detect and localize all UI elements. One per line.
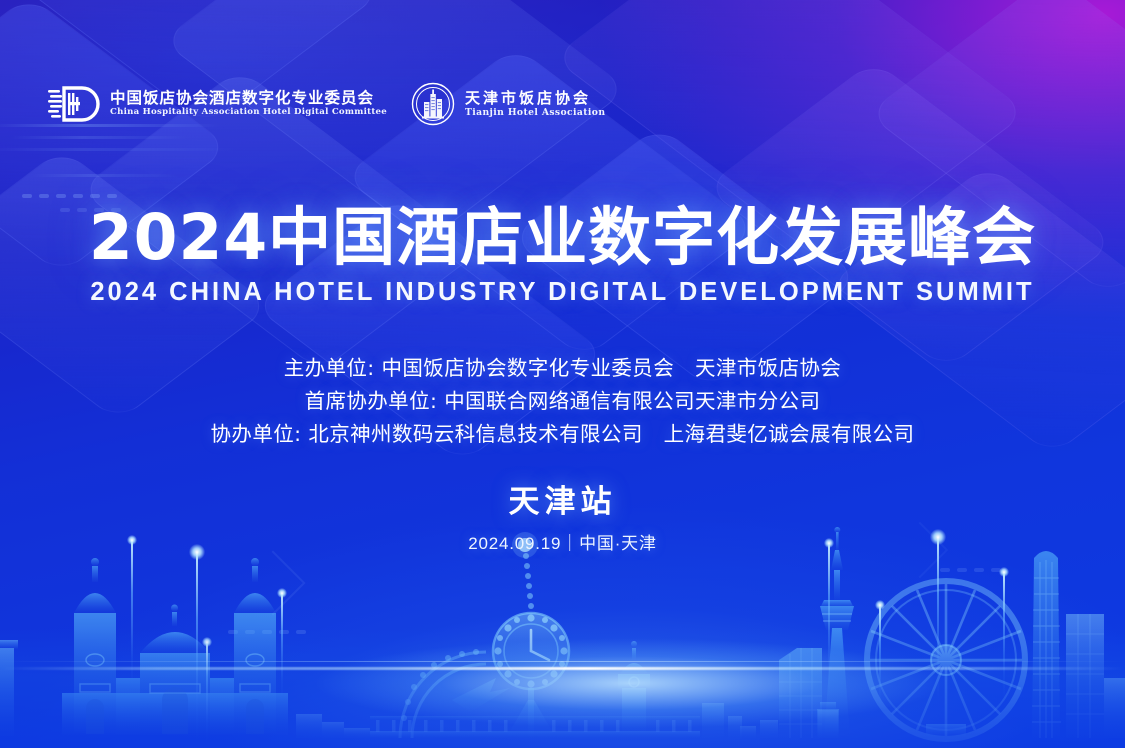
- horizon-light-secondary: [0, 661, 1125, 663]
- ground-glow: [0, 628, 1125, 748]
- title-chinese: 2024中国酒店业数字化发展峰会: [0, 206, 1125, 271]
- main-title-block: 2024中国酒店业数字化发展峰会 2024 CHINA HOTEL INDUST…: [0, 206, 1125, 307]
- organizer-line-chief-cohost: 首席协办单位: 中国联合网络通信有限公司天津市分公司: [0, 385, 1125, 418]
- bg-chevron-icon: [240, 550, 305, 615]
- logo-cn-name: 中国饭店协会酒店数字化专业委员会: [110, 90, 387, 108]
- logo-cn-name: 天津市饭店协会: [465, 90, 605, 107]
- title-english: 2024 CHINA HOTEL INDUSTRY DIGITAL DEVELO…: [0, 278, 1125, 307]
- logo-text-block: 中国饭店协会酒店数字化专业委员会 China Hospitality Assoc…: [110, 90, 387, 119]
- logo-tianjin-hotel-association: 天津市饭店协会 Tianjin Hotel Association: [411, 82, 605, 126]
- logo-cha-digital-committee: 中国饭店协会酒店数字化专业委员会 China Hospitality Assoc…: [48, 84, 387, 124]
- logo-en-name: China Hospitality Association Hotel Digi…: [110, 108, 387, 118]
- tianjin-hotel-association-seal-icon: [411, 82, 455, 126]
- header-logos: 中国饭店协会酒店数字化专业委员会 China Hospitality Assoc…: [48, 82, 605, 126]
- logo-en-name: Tianjin Hotel Association: [465, 108, 605, 119]
- horizon-light-streak: [0, 667, 1125, 670]
- organizer-block: 主办单位: 中国饭店协会数字化专业委员会 天津市饭店协会 首席协办单位: 中国联…: [0, 352, 1125, 452]
- station-name: 天津站: [0, 484, 1125, 521]
- event-station-block: 天津站 2024.09.19｜中国·天津: [0, 484, 1125, 554]
- organizer-line-host: 主办单位: 中国饭店协会数字化专业委员会 天津市饭店协会: [0, 352, 1125, 385]
- conference-poster: 中国饭店协会酒店数字化专业委员会 China Hospitality Assoc…: [0, 0, 1125, 748]
- event-date-location: 2024.09.19｜中国·天津: [0, 529, 1125, 554]
- cha-digital-committee-logo-icon: [48, 84, 100, 124]
- bg-dot-row: [940, 568, 1001, 572]
- organizer-line-cohost: 协办单位: 北京神州数码云科信息技术有限公司 上海君斐亿诚会展有限公司: [0, 418, 1125, 451]
- logo-text-block: 天津市饭店协会 Tianjin Hotel Association: [465, 90, 605, 119]
